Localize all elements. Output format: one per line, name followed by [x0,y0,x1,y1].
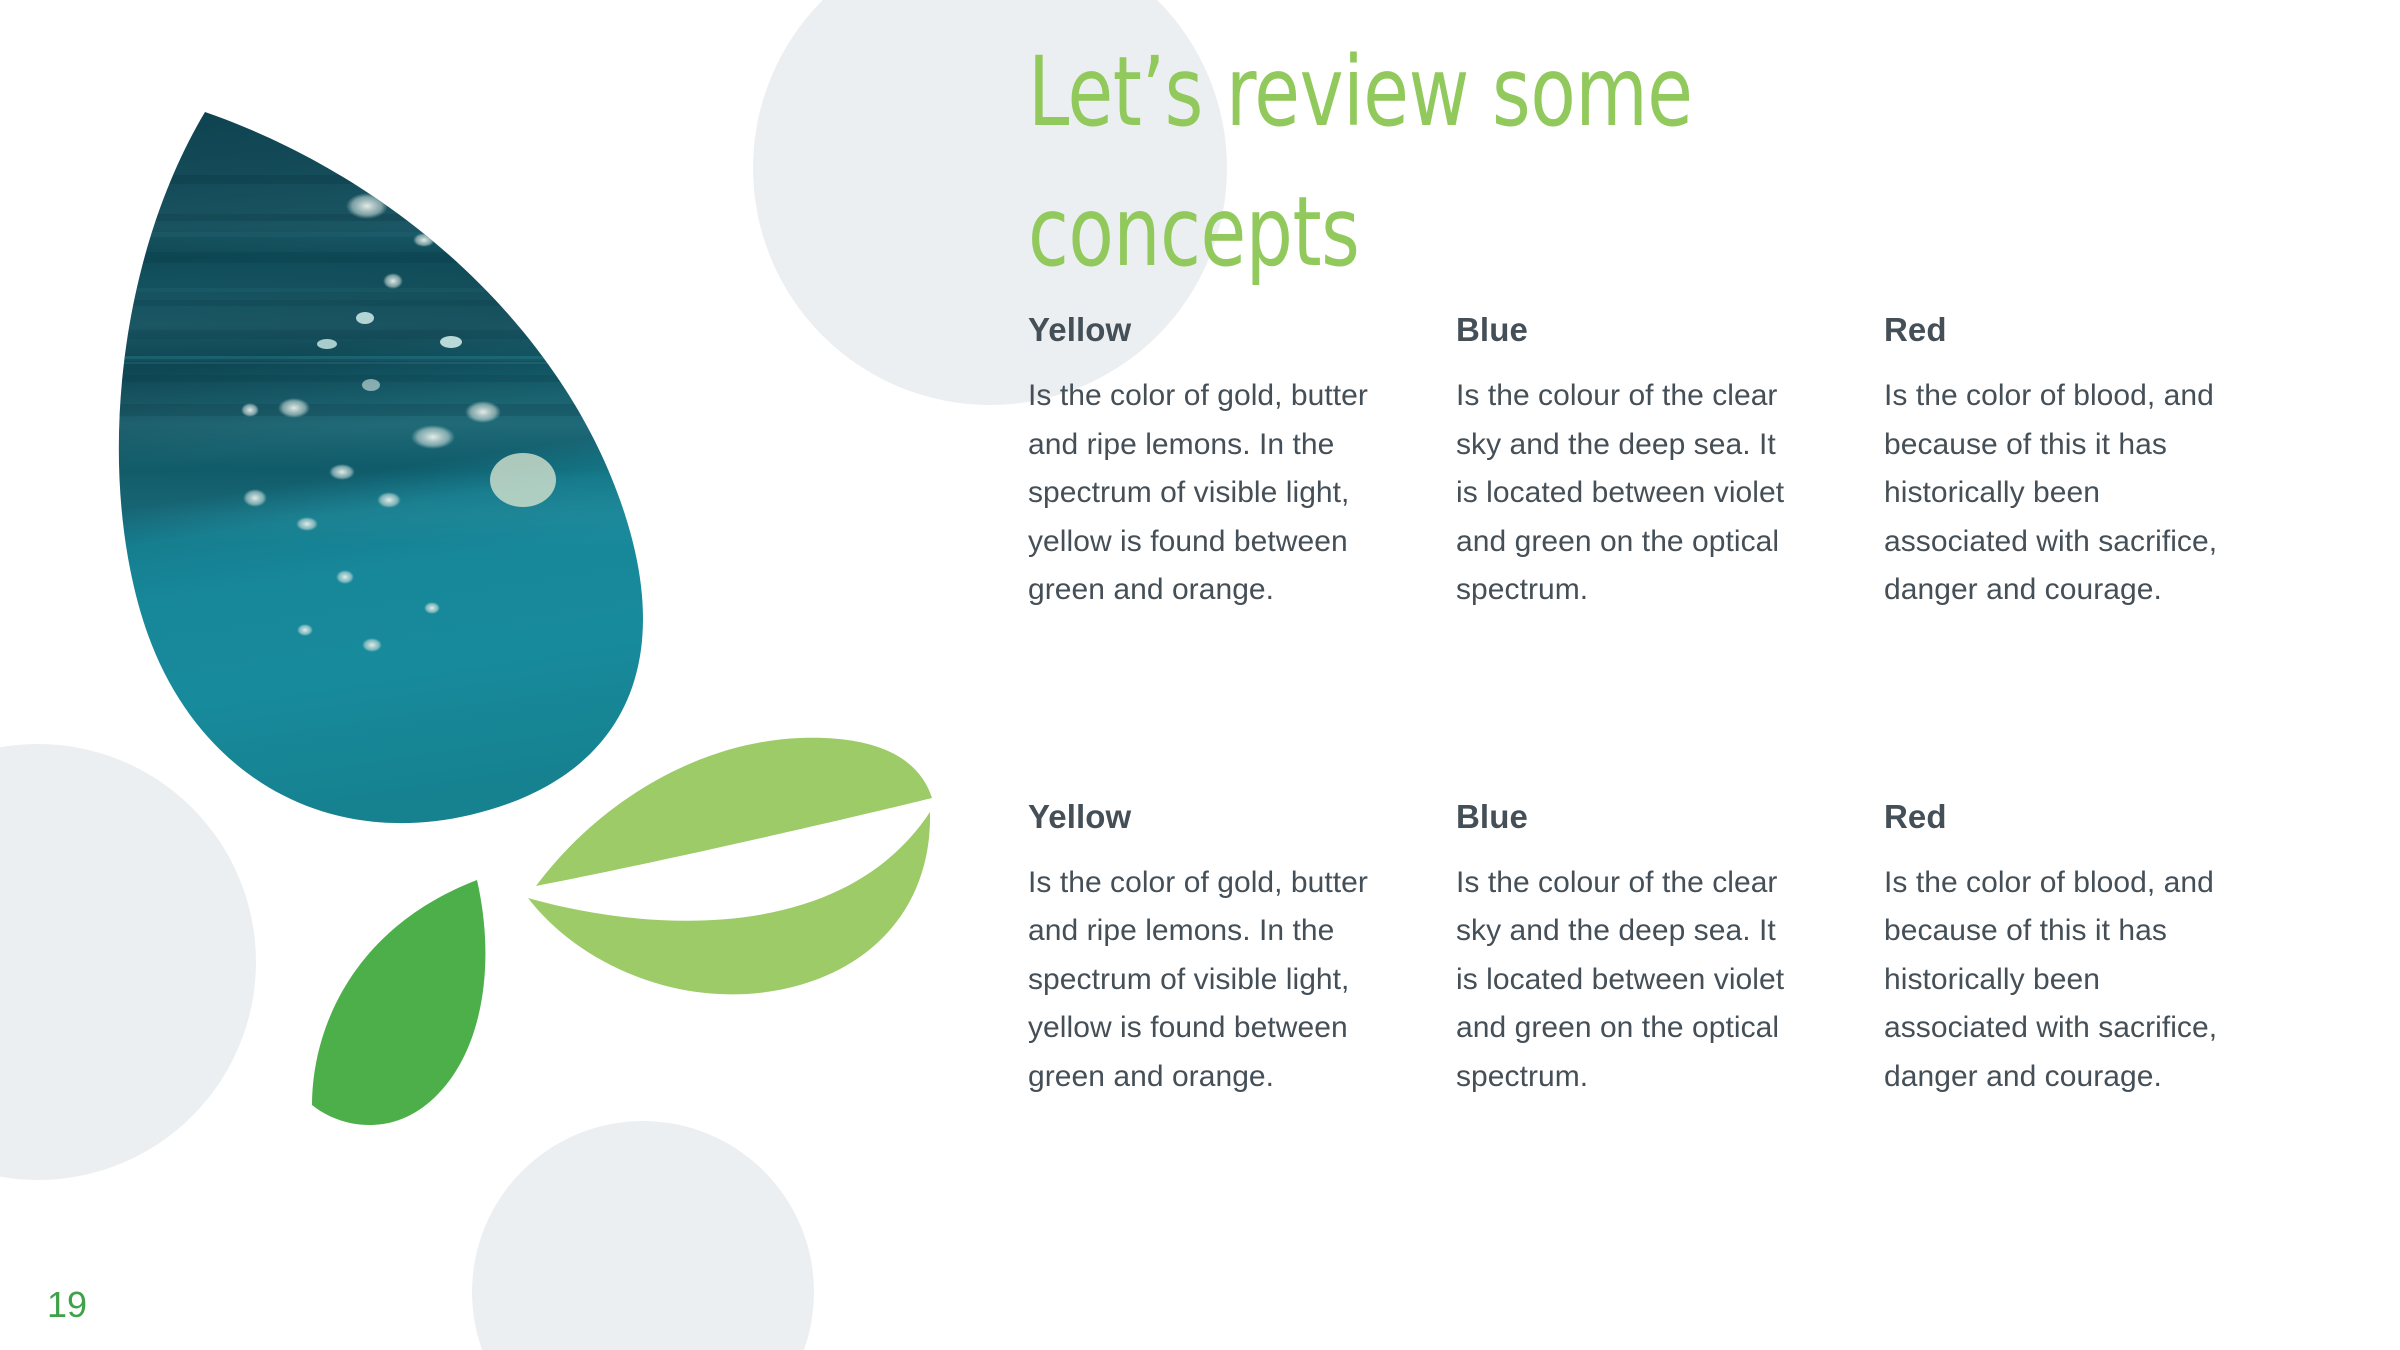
bubble [413,233,435,247]
dark-green-leaf [312,880,485,1125]
concept-heading: Red [1884,310,2229,350]
concept-column-blue-2: Blue Is the colour of the clear sky and … [1456,797,1801,1102]
decorative-circle-bottom-center [472,1121,814,1350]
light-green-leaf [528,738,932,995]
bubble [383,273,403,289]
bubble [278,398,310,418]
concept-heading: Yellow [1028,310,1373,350]
bubble [411,425,455,449]
bubble [362,638,382,652]
bubble [424,602,440,614]
concept-body: Is the color of gold, butter and ripe le… [1028,372,1373,615]
page-number: 19 [47,1283,87,1327]
bubble [346,193,388,219]
bubble [336,570,354,584]
bubble-large [490,453,556,507]
bubble [362,379,380,391]
concept-columns: Yellow Is the color of gold, butter and … [1028,310,2348,1101]
concept-body: Is the colour of the clear sky and the d… [1456,372,1801,615]
teal-photo-leaf [90,90,690,850]
bubble [241,403,259,417]
bubble [440,336,462,348]
bubble [243,489,267,507]
concept-heading: Blue [1456,310,1801,350]
concept-body: Is the color of blood, and because of th… [1884,859,2229,1102]
concept-heading: Blue [1456,797,1801,837]
presentation-slide: Let’s review some concepts Yellow Is the… [0,0,2400,1350]
concept-body: Is the colour of the clear sky and the d… [1456,859,1801,1102]
page-title: Let’s review some concepts [1028,22,1819,302]
bubble [296,517,318,531]
concept-heading: Red [1884,797,2229,837]
bubble [329,464,355,480]
bubble [465,401,501,423]
bubble [297,624,313,636]
concept-body: Is the color of gold, butter and ripe le… [1028,859,1373,1102]
concept-column-red-2: Red Is the color of blood, and because o… [1884,797,2229,1102]
bubble [317,339,337,349]
concept-column-yellow-1: Yellow Is the color of gold, butter and … [1028,310,1373,615]
concept-column-blue-1: Blue Is the colour of the clear sky and … [1456,310,1801,615]
bubble [377,492,401,508]
bubble [356,312,374,324]
concept-column-yellow-2: Yellow Is the color of gold, butter and … [1028,797,1373,1102]
concept-column-red-1: Red Is the color of blood, and because o… [1884,310,2229,615]
decorative-circle-bottom-left [0,744,256,1180]
concept-heading: Yellow [1028,797,1373,837]
concept-body: Is the color of blood, and because of th… [1884,372,2229,615]
